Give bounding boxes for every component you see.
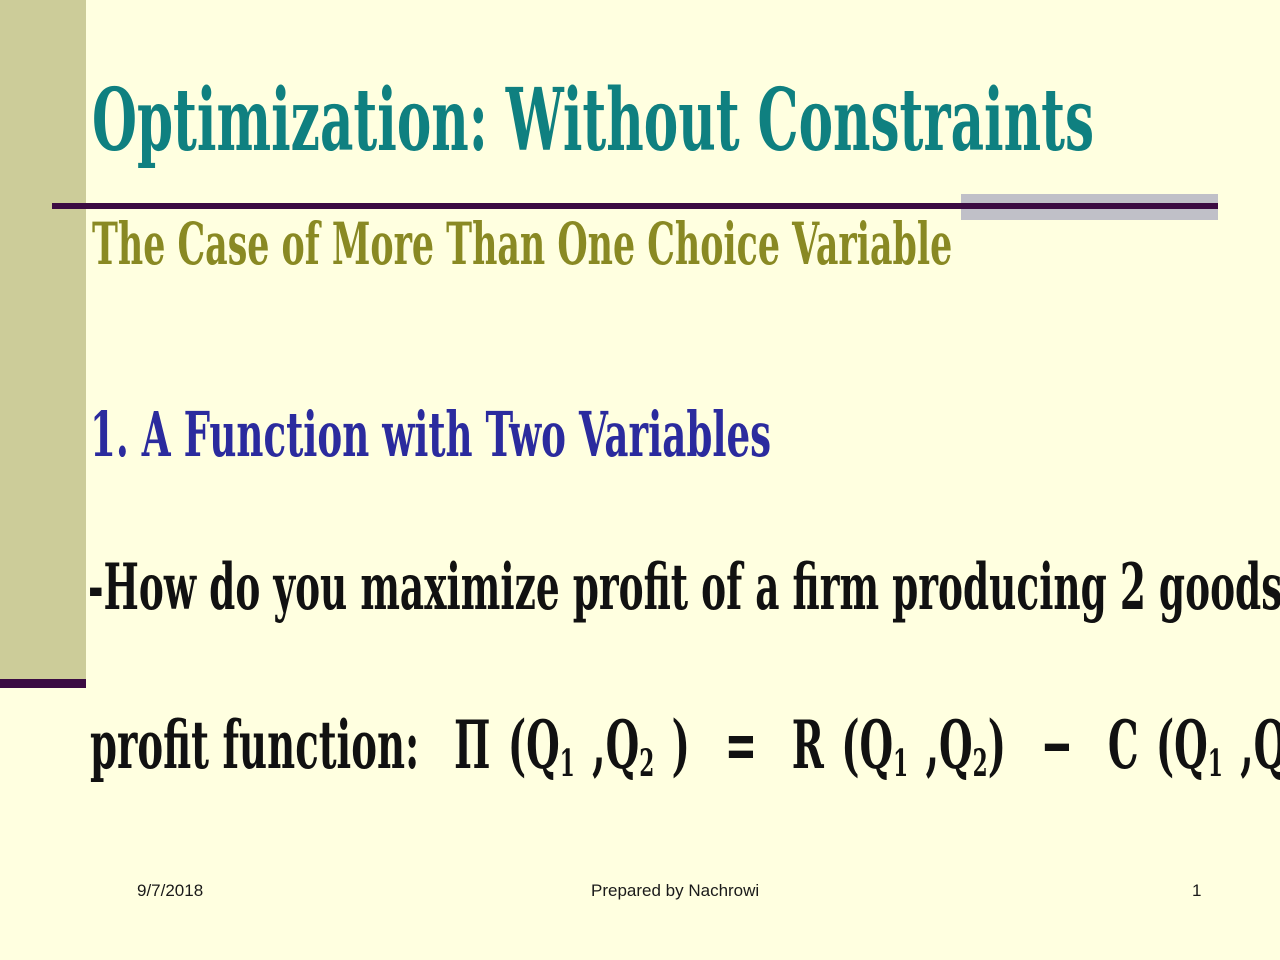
formula-lhs-close: )	[672, 706, 690, 784]
slide-subtitle: The Case of More Than One Choice Variabl…	[92, 215, 952, 273]
section-heading-1: 1. A Function with Two Variables	[90, 404, 771, 466]
formula-minus: −	[1041, 706, 1073, 784]
left-band-footer-bar	[0, 679, 86, 688]
formula-lhs-open: (Q	[508, 706, 560, 784]
header-divider-rule	[52, 203, 1218, 209]
body-question-line: -How do you maximize profit of a firm pr…	[88, 556, 1280, 620]
formula-lhs-sub1: 1	[560, 741, 575, 785]
formula-cost-symbol: C	[1108, 706, 1139, 784]
formula-revenue-open: (Q	[841, 706, 893, 784]
formula-revenue-mid: ,Q	[926, 706, 973, 784]
formula-revenue-sub2: 2	[973, 741, 988, 785]
presentation-slide: Optimization: Without Constraints The Ca…	[0, 0, 1280, 960]
formula-revenue-sub1: 1	[893, 741, 908, 785]
footer-date: 9/7/2018	[137, 881, 203, 901]
formula-cost-open: (Q	[1156, 706, 1208, 784]
left-decorative-band	[0, 0, 86, 679]
formula-pi-symbol: Π	[454, 706, 490, 784]
formula-cost-sub1: 1	[1208, 741, 1223, 785]
formula-equals: =	[725, 706, 757, 784]
footer-author: Prepared by Nachrowi	[591, 881, 759, 901]
formula-lhs-mid: ,Q	[592, 706, 639, 784]
formula-lhs-sub2: 2	[639, 741, 654, 785]
footer-page-number: 1	[1192, 881, 1201, 901]
formula-revenue-close: )	[988, 706, 1006, 784]
formula-cost-mid: ,Q	[1240, 706, 1280, 784]
profit-function-formula: profit function:Π(Q1,Q2)=R(Q1,Q2)−C(Q1,Q…	[90, 712, 1280, 778]
formula-label: profit function:	[90, 706, 419, 784]
slide-title: Optimization: Without Constraints	[92, 78, 1094, 164]
formula-revenue-symbol: R	[792, 706, 824, 784]
